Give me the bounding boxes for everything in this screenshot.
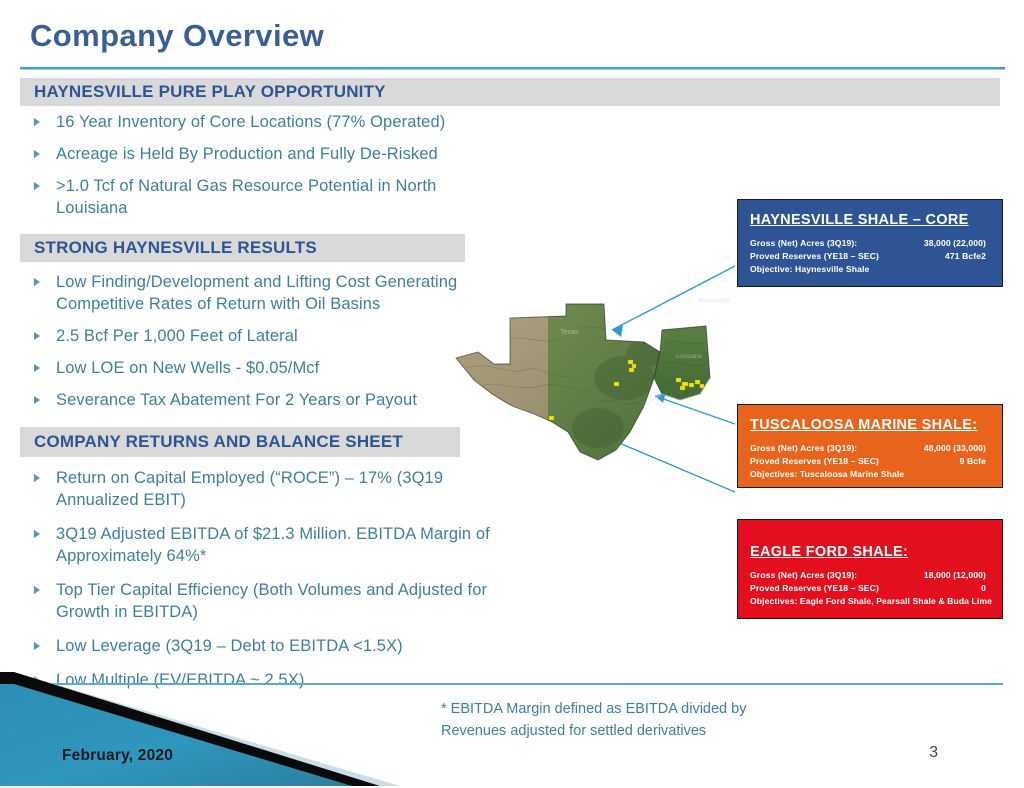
asset-box-row: Gross (Net) Acres (3Q19): 18,000 (12,000… xyxy=(750,569,990,582)
bullet-text: Acreage is Held By Production and Fully … xyxy=(56,144,438,166)
asset-box-title: TUSCALOOSA MARINE SHALE: xyxy=(750,417,990,433)
row-label: Proved Reserves (YE18 – SEC) xyxy=(750,455,879,468)
list-item: Low Finding/Development and Lifting Cost… xyxy=(34,272,494,316)
objective-text: Objectives: Eagle Ford Shale, Pearsall S… xyxy=(750,595,992,608)
objective-text: Objective: Haynesville Shale xyxy=(750,263,990,276)
asset-box-objective: Objectives: Eagle Ford Shale, Pearsall S… xyxy=(750,595,990,608)
section-header-company-returns: COMPANY RETURNS AND BALANCE SHEET xyxy=(20,427,460,457)
asset-box-objective: Objective: Haynesville Shale xyxy=(750,263,990,276)
row-value: 38,000 (22,000) xyxy=(924,237,990,250)
bullet-text: Severance Tax Abatement For 2 Years or P… xyxy=(56,390,417,412)
bullet-text: 2.5 Bcf Per 1,000 Feet of Lateral xyxy=(56,326,298,348)
list-item: Return on Capital Employed (“ROCE”) – 17… xyxy=(34,468,524,512)
list-item: 2.5 Bcf Per 1,000 Feet of Lateral xyxy=(34,326,494,348)
objective-text: Objectives: Tuscaloosa Marine Shale xyxy=(750,468,990,481)
triangle-bullet-icon xyxy=(34,636,56,650)
corner-decoration xyxy=(0,668,420,788)
footer-date: February, 2020 xyxy=(62,747,173,765)
bullet-text: Low Finding/Development and Lifting Cost… xyxy=(56,272,494,316)
map-label-louisiana: Louisiana xyxy=(676,354,702,360)
triangle-bullet-icon xyxy=(34,272,56,286)
bullet-list-strong-results: Low Finding/Development and Lifting Cost… xyxy=(34,272,494,422)
row-value: 18,000 (12,000) xyxy=(924,569,990,582)
asset-box-row: Proved Reserves (YE18 – SEC) 471 Bcfe2 xyxy=(750,250,990,263)
bullet-text: Low Leverage (3Q19 – Debt to EBITDA <1.5… xyxy=(56,636,403,658)
asset-box-haynesville: HAYNESVILLE SHALE – CORE Gross (Net) Acr… xyxy=(737,199,1003,287)
page-number: 3 xyxy=(929,744,938,762)
asset-box-objective: Objectives: Tuscaloosa Marine Shale xyxy=(750,468,990,481)
list-item: 3Q19 Adjusted EBITDA of $21.3 Million. E… xyxy=(34,524,524,568)
bullet-text: Return on Capital Employed (“ROCE”) – 17… xyxy=(56,468,524,512)
asset-box-row: Gross (Net) Acres (3Q19): 48,000 (33,000… xyxy=(750,442,990,455)
list-item: Low Leverage (3Q19 – Debt to EBITDA <1.5… xyxy=(34,636,524,658)
triangle-bullet-icon xyxy=(34,390,56,404)
map-label-texas: Texas xyxy=(560,329,579,336)
bullet-text: Low LOE on New Wells - $0.05/Mcf xyxy=(56,358,319,380)
triangle-bullet-icon xyxy=(34,144,56,158)
row-label: Gross (Net) Acres (3Q19): xyxy=(750,237,857,250)
triangle-bullet-icon xyxy=(34,524,56,538)
bullet-text: Top Tier Capital Efficiency (Both Volume… xyxy=(56,580,524,624)
map-label-mississippi: Mississippi xyxy=(698,297,729,304)
triangle-bullet-icon xyxy=(34,358,56,372)
asset-box-row: Proved Reserves (YE18 – SEC) 9 Bcfe xyxy=(750,455,990,468)
title-divider-soft xyxy=(20,69,1005,70)
asset-box-row: Proved Reserves (YE18 – SEC) 0 xyxy=(750,582,990,595)
asset-box-eagle-ford: EAGLE FORD SHALE: Gross (Net) Acres (3Q1… xyxy=(737,519,1003,619)
list-item: Low LOE on New Wells - $0.05/Mcf xyxy=(34,358,494,380)
slide: Company Overview HAYNESVILLE PURE PLAY O… xyxy=(0,0,1024,788)
asset-map: Texas Louisiana Mississippi xyxy=(448,282,748,472)
row-value: 9 Bcfe xyxy=(960,455,990,468)
row-value: 0 xyxy=(981,582,990,595)
triangle-bullet-icon xyxy=(34,176,56,190)
list-item: Top Tier Capital Efficiency (Both Volume… xyxy=(34,580,524,624)
row-label: Proved Reserves (YE18 – SEC) xyxy=(750,250,879,263)
list-item: Severance Tax Abatement For 2 Years or P… xyxy=(34,390,494,412)
asset-box-tuscaloosa: TUSCALOOSA MARINE SHALE: Gross (Net) Acr… xyxy=(737,404,1003,488)
row-value: 471 Bcfe2 xyxy=(945,250,990,263)
asset-box-title: EAGLE FORD SHALE: xyxy=(750,544,990,560)
asset-box-title: HAYNESVILLE SHALE – CORE xyxy=(750,212,990,228)
footnote: * EBITDA Margin defined as EBITDA divide… xyxy=(441,698,771,743)
list-item: Acreage is Held By Production and Fully … xyxy=(34,144,484,166)
row-label: Gross (Net) Acres (3Q19): xyxy=(750,442,857,455)
row-value: 48,000 (33,000) xyxy=(924,442,990,455)
bullet-text: >1.0 Tcf of Natural Gas Resource Potenti… xyxy=(56,176,484,220)
row-label: Proved Reserves (YE18 – SEC) xyxy=(750,582,879,595)
row-label: Gross (Net) Acres (3Q19): xyxy=(750,569,857,582)
list-item: >1.0 Tcf of Natural Gas Resource Potenti… xyxy=(34,176,484,220)
bullet-text: 16 Year Inventory of Core Locations (77%… xyxy=(56,112,445,134)
asset-box-row: Gross (Net) Acres (3Q19): 38,000 (22,000… xyxy=(750,237,990,250)
section-header-label: COMPANY RETURNS AND BALANCE SHEET xyxy=(34,432,403,452)
section-header-label: STRONG HAYNESVILLE RESULTS xyxy=(34,238,317,258)
section-header-haynesville-opportunity: HAYNESVILLE PURE PLAY OPPORTUNITY xyxy=(20,78,1000,106)
bullet-text: 3Q19 Adjusted EBITDA of $21.3 Million. E… xyxy=(56,524,524,568)
triangle-bullet-icon xyxy=(34,580,56,594)
triangle-bullet-icon xyxy=(34,112,56,126)
bullet-list-haynesville-opportunity: 16 Year Inventory of Core Locations (77%… xyxy=(34,112,484,230)
page-title: Company Overview xyxy=(30,18,324,54)
list-item: 16 Year Inventory of Core Locations (77%… xyxy=(34,112,484,134)
triangle-bullet-icon xyxy=(34,468,56,482)
section-header-label: HAYNESVILLE PURE PLAY OPPORTUNITY xyxy=(34,82,386,102)
triangle-bullet-icon xyxy=(34,326,56,340)
section-header-strong-results: STRONG HAYNESVILLE RESULTS xyxy=(20,234,465,262)
